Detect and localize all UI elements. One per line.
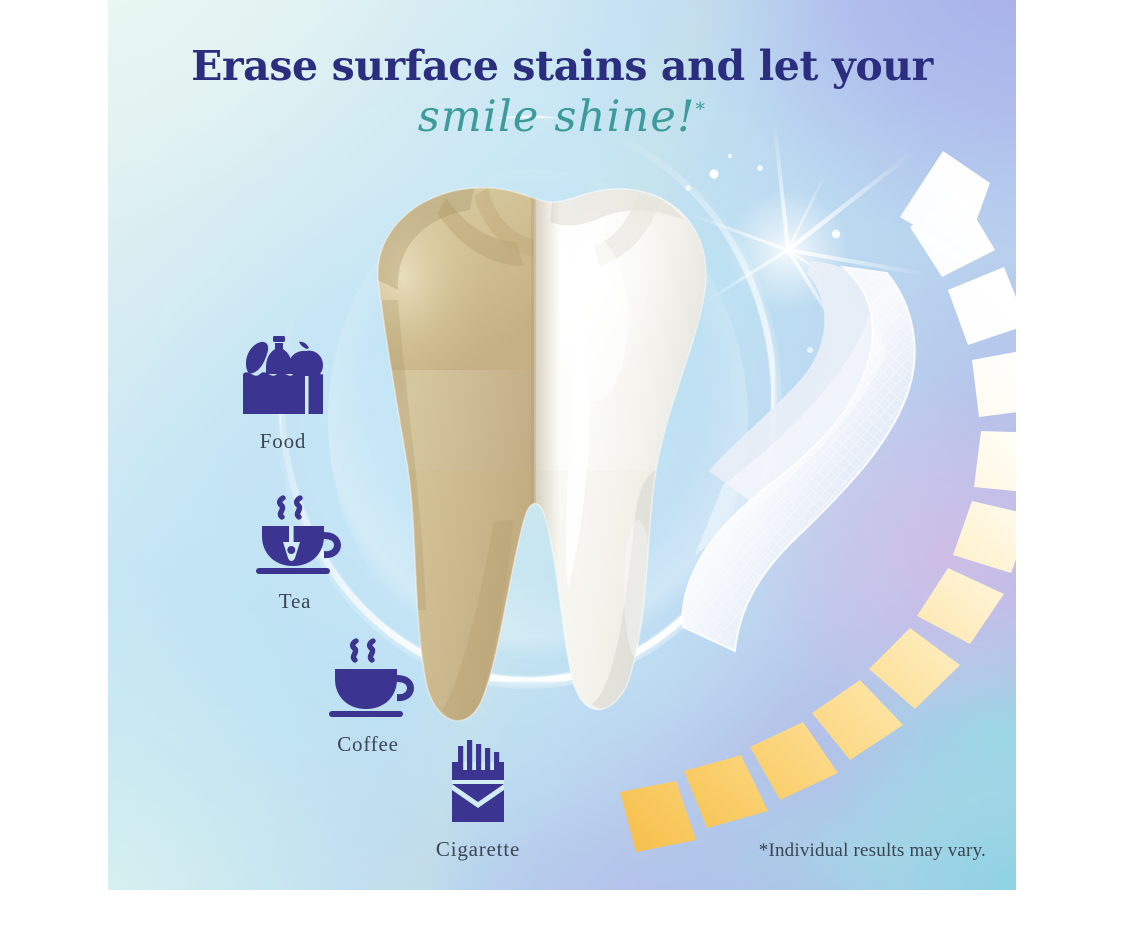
headline-secondary: smile shine!* (418, 96, 707, 139)
cause-item-food: Food (213, 332, 353, 454)
cause-item-cigarette: Cigarette (408, 740, 548, 862)
coffee-cup-icon (298, 635, 438, 721)
disclaimer-footnote: *Individual results may vary. (759, 840, 986, 862)
cause-label-tea: Tea (225, 589, 365, 614)
teacup-icon (225, 492, 365, 578)
cigarette-pack-icon (408, 740, 548, 826)
headline-block: Erase surface stains and let your smile … (108, 44, 1016, 139)
cause-item-tea: Tea (225, 492, 365, 614)
headline-asterisk: * (696, 99, 707, 121)
grocery-bag-icon (213, 332, 353, 418)
headline-primary: Erase surface stains and let your (108, 44, 1016, 88)
cause-label-cigarette: Cigarette (408, 837, 548, 862)
promo-banner: Erase surface stains and let your smile … (108, 0, 1016, 890)
cause-label-food: Food (213, 429, 353, 454)
cause-item-coffee: Coffee (298, 635, 438, 757)
headline-secondary-text: smile shine! (418, 92, 696, 142)
